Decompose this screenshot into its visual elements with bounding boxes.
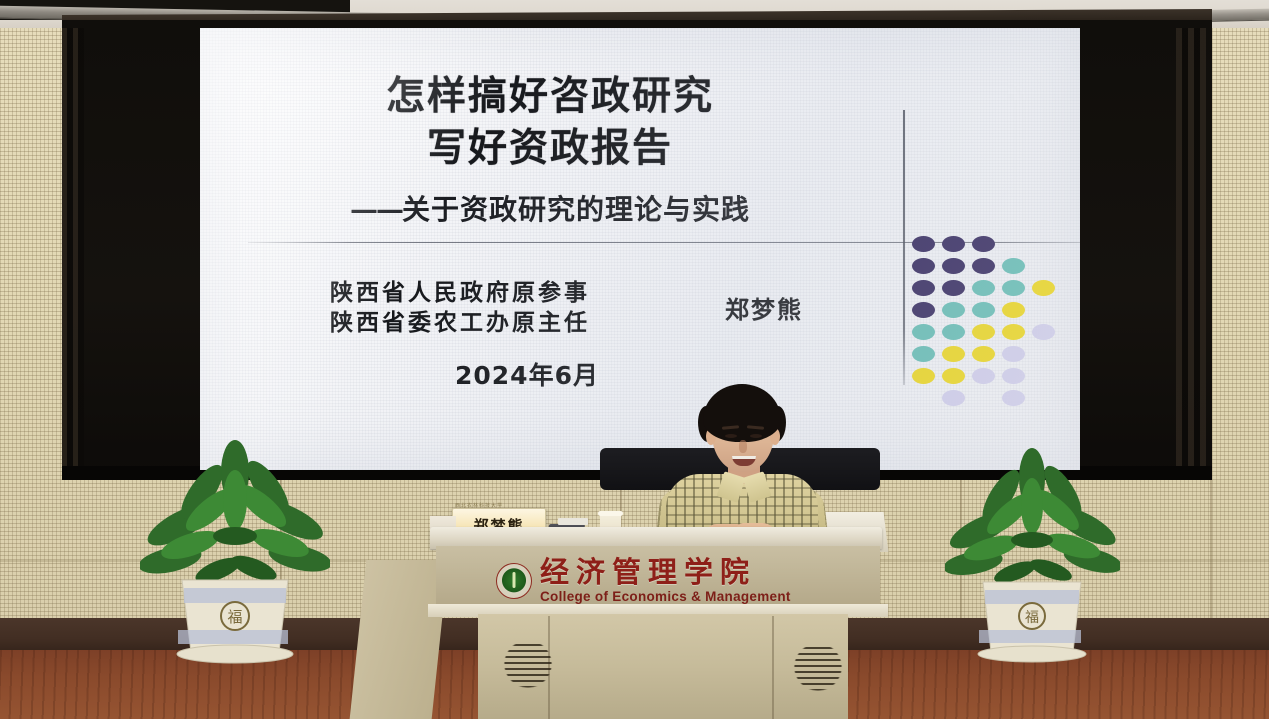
decor-dot-lavender xyxy=(1002,390,1025,406)
decor-dot-yellow xyxy=(972,324,995,340)
decor-dot-teal xyxy=(912,324,935,340)
decor-dot-navy xyxy=(972,236,995,252)
decor-dot-teal xyxy=(1002,258,1025,274)
eye-left xyxy=(725,434,737,438)
paper-cup-rim xyxy=(598,511,623,516)
podium-base-seam xyxy=(772,616,774,719)
decor-dot-navy xyxy=(942,236,965,252)
speaker-grille-right xyxy=(790,643,846,691)
subtitle-dash: —— xyxy=(350,193,402,226)
decor-dot-teal xyxy=(972,302,995,318)
decor-dot-lavender xyxy=(972,368,995,384)
svg-text:福: 福 xyxy=(227,608,242,626)
podium-side-panel xyxy=(350,560,449,719)
decor-dot-yellow xyxy=(972,346,995,362)
curtain-right xyxy=(1176,28,1206,478)
dot-grid-decoration xyxy=(912,236,1072,396)
subtitle-text: 关于资政研究的理论与实践 xyxy=(402,193,750,226)
podium-branding: 经济管理学院 College of Economics & Management xyxy=(496,556,836,606)
presentation-date: 2024年6月 xyxy=(455,356,599,392)
decor-dot-navy xyxy=(912,258,935,274)
potted-plant-left: 福 xyxy=(140,440,330,670)
decor-dot-yellow xyxy=(1002,324,1025,340)
decor-dot-navy xyxy=(942,280,965,296)
decor-dot-navy xyxy=(912,236,935,252)
podium-logo-text: 经济管理学院 College of Economics & Management xyxy=(540,558,791,604)
university-crest-icon xyxy=(496,563,532,599)
nose xyxy=(739,440,747,453)
seated-speaker xyxy=(628,384,848,544)
decor-dot-teal xyxy=(972,280,995,296)
curtain-left xyxy=(62,28,84,478)
decor-dot-yellow xyxy=(1002,302,1025,318)
presenter-name: 郑梦熊 xyxy=(725,290,803,325)
speaker-hair xyxy=(703,384,781,442)
decor-dot-yellow xyxy=(1032,280,1055,296)
decor-dot-lavender xyxy=(1032,324,1055,340)
svg-text:福: 福 xyxy=(1025,610,1039,626)
decor-dot-navy xyxy=(912,280,935,296)
decor-dot-yellow xyxy=(942,346,965,362)
decor-dot-teal xyxy=(942,302,965,318)
decor-dot-teal xyxy=(942,324,965,340)
potted-plant-right: 福 xyxy=(945,448,1120,673)
decor-dot-teal xyxy=(1002,280,1025,296)
eye-right xyxy=(750,434,762,438)
nameplate-header: 西北农林科技大学 xyxy=(455,502,503,509)
decor-dot-yellow xyxy=(942,368,965,384)
papers xyxy=(558,518,588,525)
podium-logo-chinese: 经济管理学院 xyxy=(540,558,791,587)
decor-dot-teal xyxy=(912,346,935,362)
lecture-hall-scene: 怎样搞好咨政研究 写好资政报告 ——关于资政研究的理论与实践 陕西省人民政府原参… xyxy=(0,0,1269,719)
slide-subtitle: ——关于资政研究的理论与实践 xyxy=(200,188,900,228)
slide-title-line-1: 怎样搞好咨政研究 xyxy=(200,74,900,120)
speaker-grille-left xyxy=(500,640,556,688)
podium-logo-english: College of Economics & Management xyxy=(540,590,791,604)
decor-dot-lavender xyxy=(942,390,965,406)
decor-dot-navy xyxy=(912,302,935,318)
decor-dot-lavender xyxy=(1002,346,1025,362)
decor-dot-yellow xyxy=(912,368,935,384)
decor-dot-navy xyxy=(942,258,965,274)
decor-dot-lavender xyxy=(1002,368,1025,384)
decor-dot-navy xyxy=(972,258,995,274)
slide-vertical-rule xyxy=(903,110,905,385)
wall-seam xyxy=(1210,478,1212,640)
slide-title-line-2: 写好资政报告 xyxy=(200,126,900,172)
